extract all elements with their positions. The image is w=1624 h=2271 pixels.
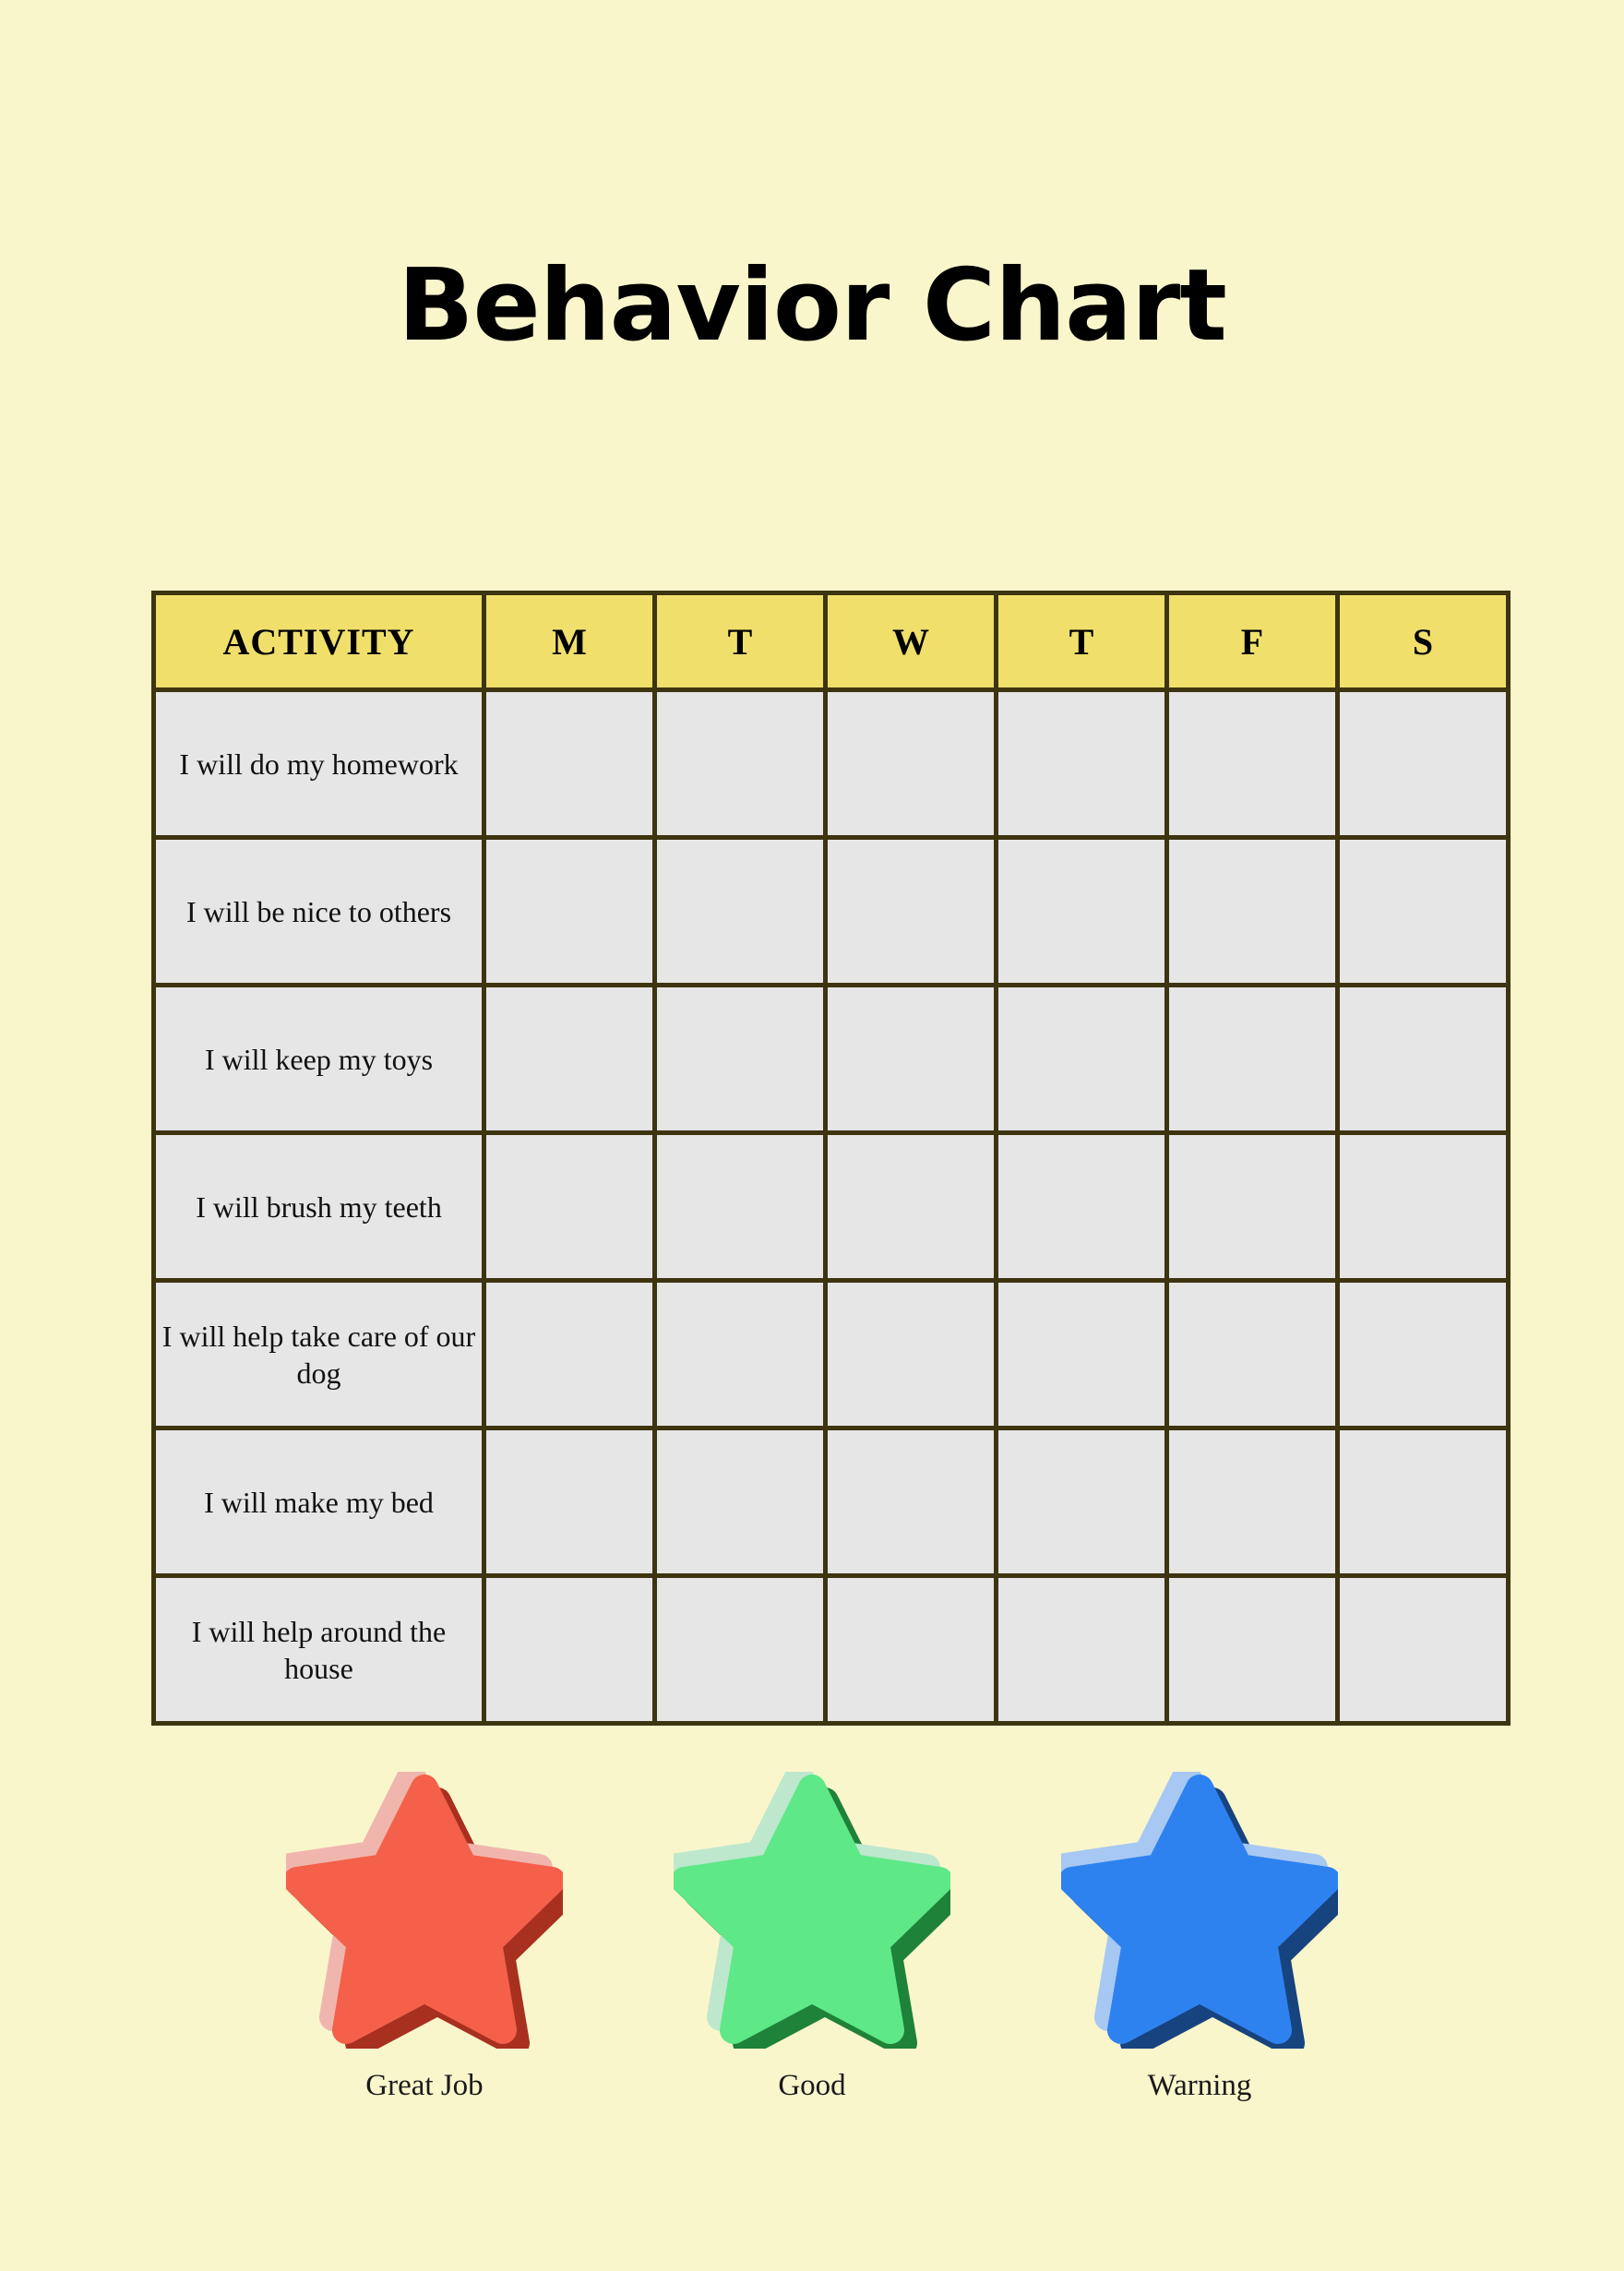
table-row: I will brush my teeth [154, 1133, 1509, 1281]
checkbox-cell-wednesday[interactable] [826, 986, 997, 1133]
star-icon [1061, 1772, 1338, 2049]
legend-label: Good [778, 2069, 845, 2102]
table-row: I will make my bed [154, 1428, 1509, 1576]
legend-item: Warning [1061, 1772, 1338, 2102]
table-row: I will help take care of our dog [154, 1281, 1509, 1428]
checkbox-cell-tuesday[interactable] [655, 1576, 826, 1724]
legend-item: Great Job [286, 1772, 563, 2102]
checkbox-cell-friday[interactable] [1167, 1133, 1338, 1281]
column-header-saturday: S [1338, 593, 1509, 690]
behavior-chart-table-container: ACTIVITY M T W T F S I will do my homewo… [151, 591, 1475, 1726]
column-header-friday: F [1167, 593, 1338, 690]
checkbox-cell-monday[interactable] [484, 1428, 655, 1576]
column-header-activity: ACTIVITY [154, 593, 484, 690]
table-body: I will do my homeworkI will be nice to o… [154, 690, 1509, 1724]
legend-item: Good [674, 1772, 950, 2102]
checkbox-cell-wednesday[interactable] [826, 1281, 997, 1428]
column-header-wednesday: W [826, 593, 997, 690]
star-icon [674, 1772, 950, 2049]
star-icon [286, 1772, 563, 2049]
activity-label-cell: I will help take care of our dog [154, 1281, 484, 1428]
activity-label-cell: I will help around the house [154, 1576, 484, 1724]
checkbox-cell-tuesday[interactable] [655, 838, 826, 986]
checkbox-cell-thursday[interactable] [997, 690, 1167, 838]
behavior-chart-table: ACTIVITY M T W T F S I will do my homewo… [151, 591, 1511, 1726]
checkbox-cell-tuesday[interactable] [655, 986, 826, 1133]
checkbox-cell-tuesday[interactable] [655, 1133, 826, 1281]
table-header: ACTIVITY M T W T F S [154, 593, 1509, 690]
legend: Great JobGoodWarning [0, 1772, 1624, 2102]
checkbox-cell-tuesday[interactable] [655, 690, 826, 838]
checkbox-cell-monday[interactable] [484, 838, 655, 986]
activity-label-cell: I will brush my teeth [154, 1133, 484, 1281]
checkbox-cell-wednesday[interactable] [826, 1576, 997, 1724]
table-row: I will do my homework [154, 690, 1509, 838]
checkbox-cell-friday[interactable] [1167, 838, 1338, 986]
checkbox-cell-monday[interactable] [484, 690, 655, 838]
activity-label-cell: I will make my bed [154, 1428, 484, 1576]
table-row: I will help around the house [154, 1576, 1509, 1724]
checkbox-cell-thursday[interactable] [997, 838, 1167, 986]
checkbox-cell-saturday[interactable] [1338, 1428, 1509, 1576]
checkbox-cell-friday[interactable] [1167, 690, 1338, 838]
checkbox-cell-saturday[interactable] [1338, 1133, 1509, 1281]
checkbox-cell-wednesday[interactable] [826, 838, 997, 986]
checkbox-cell-friday[interactable] [1167, 986, 1338, 1133]
checkbox-cell-thursday[interactable] [997, 986, 1167, 1133]
checkbox-cell-thursday[interactable] [997, 1428, 1167, 1576]
checkbox-cell-wednesday[interactable] [826, 1428, 997, 1576]
checkbox-cell-tuesday[interactable] [655, 1281, 826, 1428]
checkbox-cell-tuesday[interactable] [655, 1428, 826, 1576]
legend-label: Warning [1148, 2069, 1252, 2102]
checkbox-cell-saturday[interactable] [1338, 838, 1509, 986]
activity-label-cell: I will do my homework [154, 690, 484, 838]
page-title: Behavior Chart [0, 257, 1624, 356]
checkbox-cell-friday[interactable] [1167, 1428, 1338, 1576]
column-header-thursday: T [997, 593, 1167, 690]
checkbox-cell-monday[interactable] [484, 1281, 655, 1428]
checkbox-cell-saturday[interactable] [1338, 1576, 1509, 1724]
column-header-monday: M [484, 593, 655, 690]
checkbox-cell-thursday[interactable] [997, 1281, 1167, 1428]
table-row: I will be nice to others [154, 838, 1509, 986]
activity-label-cell: I will be nice to others [154, 838, 484, 986]
activity-label-cell: I will keep my toys [154, 986, 484, 1133]
table-row: I will keep my toys [154, 986, 1509, 1133]
checkbox-cell-wednesday[interactable] [826, 690, 997, 838]
checkbox-cell-thursday[interactable] [997, 1133, 1167, 1281]
checkbox-cell-saturday[interactable] [1338, 690, 1509, 838]
table-header-row: ACTIVITY M T W T F S [154, 593, 1509, 690]
checkbox-cell-saturday[interactable] [1338, 1281, 1509, 1428]
checkbox-cell-thursday[interactable] [997, 1576, 1167, 1724]
checkbox-cell-monday[interactable] [484, 1576, 655, 1724]
checkbox-cell-monday[interactable] [484, 986, 655, 1133]
legend-label: Great Job [365, 2069, 483, 2102]
checkbox-cell-saturday[interactable] [1338, 986, 1509, 1133]
column-header-tuesday: T [655, 593, 826, 690]
checkbox-cell-monday[interactable] [484, 1133, 655, 1281]
checkbox-cell-friday[interactable] [1167, 1576, 1338, 1724]
checkbox-cell-wednesday[interactable] [826, 1133, 997, 1281]
checkbox-cell-friday[interactable] [1167, 1281, 1338, 1428]
